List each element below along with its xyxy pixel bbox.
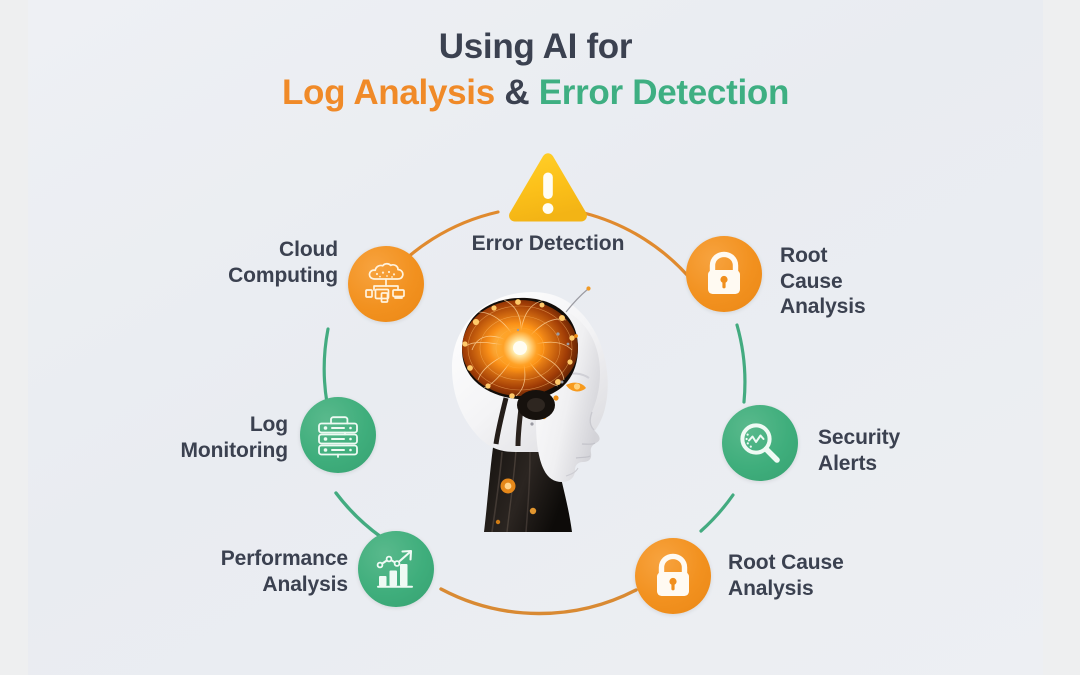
title-ampersand: & bbox=[504, 73, 529, 112]
magnifier-waveform-icon bbox=[736, 419, 784, 467]
label-cloud-computing-line-1: Cloud bbox=[138, 237, 338, 263]
cloud-computing-icon bbox=[362, 260, 410, 308]
arc-bottom bbox=[441, 589, 636, 614]
node-root-cause-analysis-bottom[interactable] bbox=[635, 538, 711, 614]
warning-triangle-icon bbox=[507, 152, 589, 224]
node-root-cause-analysis-top[interactable] bbox=[686, 236, 762, 312]
label-security-alerts: Security Alerts bbox=[818, 425, 1028, 476]
lock-icon bbox=[651, 553, 695, 599]
lock-icon bbox=[702, 251, 746, 297]
node-log-monitoring[interactable] bbox=[300, 397, 376, 473]
node-security-alerts[interactable] bbox=[722, 405, 798, 481]
page-title: Using AI for Log Analysis & Error Detect… bbox=[28, 28, 1043, 112]
arc-right-upper bbox=[737, 325, 745, 402]
error-detection-label: Error Detection bbox=[430, 232, 666, 256]
ai-robot-head-image bbox=[432, 272, 642, 532]
label-performance-analysis: Performance Analysis bbox=[138, 546, 348, 597]
label-security-alerts-line-2: Alerts bbox=[818, 451, 1028, 477]
label-rca-bottom-line-2: Analysis bbox=[728, 576, 958, 602]
arc-right-lower bbox=[701, 495, 733, 531]
arc-left-lower bbox=[336, 493, 381, 537]
arc-left-upper bbox=[324, 329, 328, 403]
label-performance-analysis-line-2: Analysis bbox=[138, 572, 348, 598]
infographic-canvas: Using AI for Log Analysis & Error Detect… bbox=[28, 0, 1043, 675]
label-rca-bottom-line-1: Root Cause bbox=[728, 550, 958, 576]
label-rca-top-line-3: Analysis bbox=[780, 294, 980, 320]
server-stack-icon bbox=[314, 411, 362, 459]
label-cloud-computing-line-2: Computing bbox=[138, 263, 338, 289]
node-performance-analysis[interactable] bbox=[358, 531, 434, 607]
label-root-cause-analysis-bottom: Root Cause Analysis bbox=[728, 550, 958, 601]
infographic-root: Using AI for Log Analysis & Error Detect… bbox=[0, 0, 1080, 675]
label-performance-analysis-line-1: Performance bbox=[138, 546, 348, 572]
label-cloud-computing: Cloud Computing bbox=[138, 237, 338, 288]
title-line-1: Using AI for bbox=[28, 28, 1043, 66]
label-log-monitoring-line-1: Log bbox=[88, 412, 288, 438]
title-log-analysis: Log Analysis bbox=[282, 73, 495, 112]
label-rca-top-line-1: Root bbox=[780, 243, 980, 269]
label-log-monitoring: Log Monitoring bbox=[88, 412, 288, 463]
label-rca-top-line-2: Cause bbox=[780, 269, 980, 295]
label-log-monitoring-line-2: Monitoring bbox=[88, 438, 288, 464]
bar-chart-trend-icon bbox=[372, 545, 420, 593]
label-security-alerts-line-1: Security bbox=[818, 425, 1028, 451]
label-root-cause-analysis-top: Root Cause Analysis bbox=[780, 243, 980, 320]
title-line-2: Log Analysis & Error Detection bbox=[28, 74, 1043, 112]
node-cloud-computing[interactable] bbox=[348, 246, 424, 322]
title-error-detection: Error Detection bbox=[539, 73, 789, 112]
